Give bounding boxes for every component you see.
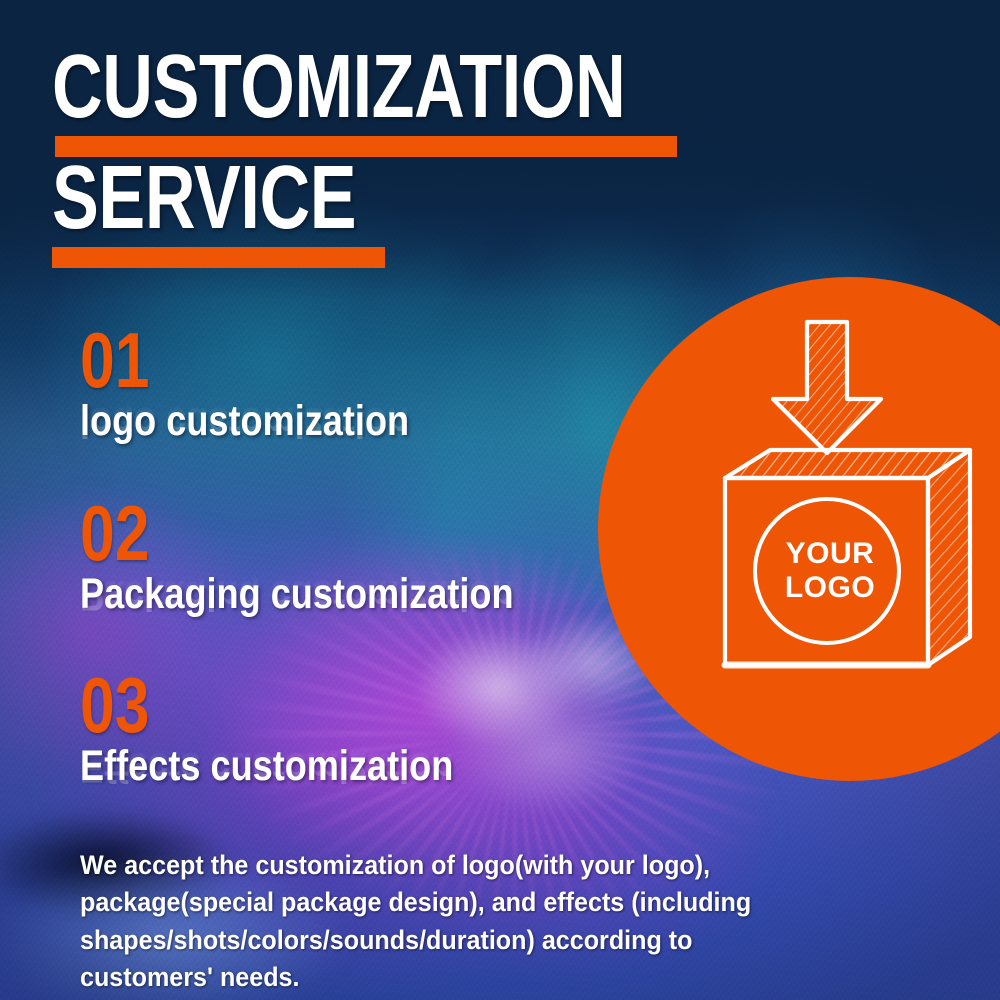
feature-label-wrap-03: Effects customization Effects customizat…: [80, 745, 524, 788]
feature-number-03: 03: [80, 672, 436, 739]
title-line-one: CUSTOMIZATION: [52, 44, 732, 157]
title-line-two-text: SERVICE: [52, 155, 582, 241]
title-line-two: SERVICE: [52, 155, 732, 270]
page-title: CUSTOMIZATION SERVICE: [52, 44, 732, 270]
feature-label-03: Effects customization: [80, 745, 453, 788]
box-illustration: [598, 277, 1000, 781]
feature-item-01: 01 logo customization logo customization: [80, 327, 472, 443]
logo-placeholder-line-two: LOGO: [785, 571, 875, 604]
logo-placeholder-line-one: YOUR: [786, 537, 875, 570]
feature-item-02: 02 Packaging customization Packaging cus…: [80, 500, 596, 616]
down-arrow-icon: [773, 322, 881, 453]
feature-number-01: 01: [80, 327, 393, 394]
body-copy: We accept the customization of logo(with…: [80, 847, 815, 996]
title-underline-bar-two: [52, 247, 385, 268]
feature-number-02: 02: [80, 500, 493, 567]
feature-label-wrap-02: Packaging customization Packaging custom…: [80, 573, 596, 616]
customization-service-poster: CUSTOMIZATION SERVICE 01 logo customizat…: [0, 0, 1000, 1000]
feature-label-01: logo customization: [80, 400, 409, 443]
feature-item-03: 03 Effects customization Effects customi…: [80, 672, 524, 788]
title-line-one-text: CUSTOMIZATION: [52, 44, 582, 130]
logo-placeholder-text: YOUR LOGO: [727, 537, 933, 604]
feature-label-wrap-01: logo customization logo customization: [80, 400, 472, 443]
feature-label-02: Packaging customization: [80, 573, 514, 616]
